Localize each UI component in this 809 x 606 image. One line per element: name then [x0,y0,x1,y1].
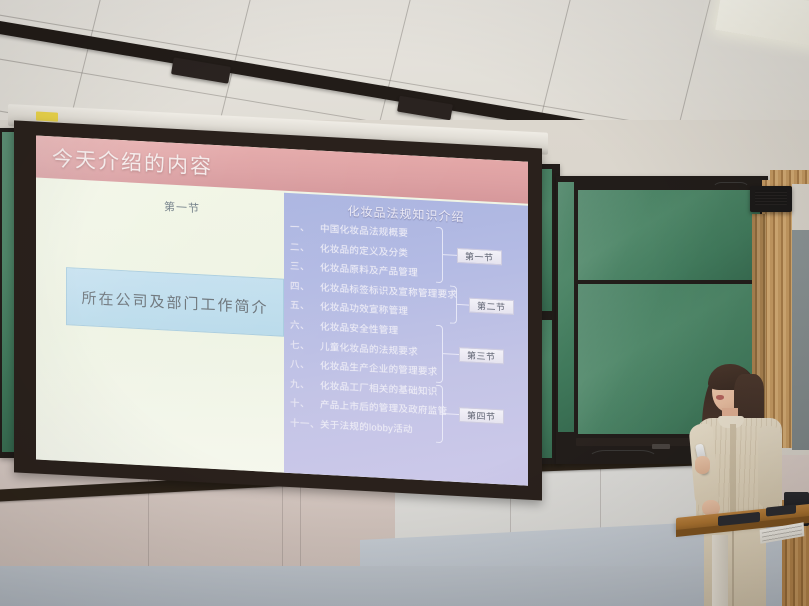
projection-screen: 今天介绍的内容 第一节 所在公司及部门工作简介 化妆品法规知识介绍 一、 中国化… [8,104,548,503]
section-label: 第四节 [459,407,504,424]
cable [588,450,658,468]
group-bracket [436,227,443,283]
wall-speaker [750,186,792,212]
toc-number: 三、 [290,258,320,274]
section-label-text: 第二节 [477,299,506,314]
slide-highlight-box: 所在公司及部门工作简介 [66,267,284,337]
slide-highlight-text: 所在公司及部门工作简介 [81,286,268,317]
section-label-text: 第一节 [465,249,494,264]
group-bracket [450,286,457,324]
right-arm [758,426,782,508]
toc-text: 化妆品安全性管理 [320,319,398,337]
casing-label [36,111,58,121]
section-label-text: 第四节 [467,408,496,423]
section-label: 第二节 [469,298,514,315]
toc-number: 九、 [290,376,320,392]
section-label: 第一节 [457,248,502,265]
classroom-scene: 今天介绍的内容 第一节 所在公司及部门工作简介 化妆品法规知识介绍 一、 中国化… [0,0,809,606]
hand-holding-microphone [695,456,710,474]
toc-number: 二、 [290,239,320,255]
toc-number: 四、 [290,278,320,294]
shirt-placket [730,424,736,520]
toc-number: 七、 [290,337,320,353]
embedded-subslide: 化妆品法规知识介绍 一、 中国化妆品法规概要 二、 化妆品的定义及分类 [284,193,528,486]
floor-front [0,566,809,606]
toc-text: 中国化妆品法规概要 [320,221,408,240]
chalkboard-panel-upper [578,190,760,280]
slide-title: 今天介绍的内容 [52,142,213,181]
screen-frame: 今天介绍的内容 第一节 所在公司及部门工作简介 化妆品法规知识介绍 一、 中国化… [14,120,542,500]
cable [712,182,750,198]
toc-number: 六、 [290,317,320,333]
toc-number: 一、 [290,219,320,235]
ceiling-light-panel [715,0,809,50]
slide-section-marker: 第一节 [164,198,200,216]
toc-number: 五、 [290,297,320,313]
table-of-contents: 一、 中国化妆品法规概要 二、 化妆品的定义及分类 三、 化妆品原料及产品管理 [290,219,480,445]
group-bracket [436,385,443,443]
group-bracket [436,325,443,383]
toc-number: 十一、 [290,415,320,431]
toc-number: 十、 [290,395,320,411]
toc-number: 八、 [290,356,320,372]
wood-slat-panel [770,170,809,184]
section-label-text: 第三节 [467,348,496,363]
section-label: 第三节 [459,347,504,364]
slide-title-banner: 今天介绍的内容 [36,135,528,203]
presentation-slide: 今天介绍的内容 第一节 所在公司及部门工作简介 化妆品法规知识介绍 一、 中国化… [36,135,528,485]
screen-surface: 今天介绍的内容 第一节 所在公司及部门工作简介 化妆品法规知识介绍 一、 中国化… [36,135,528,485]
podium-leg [712,535,728,606]
mouth [716,395,724,400]
